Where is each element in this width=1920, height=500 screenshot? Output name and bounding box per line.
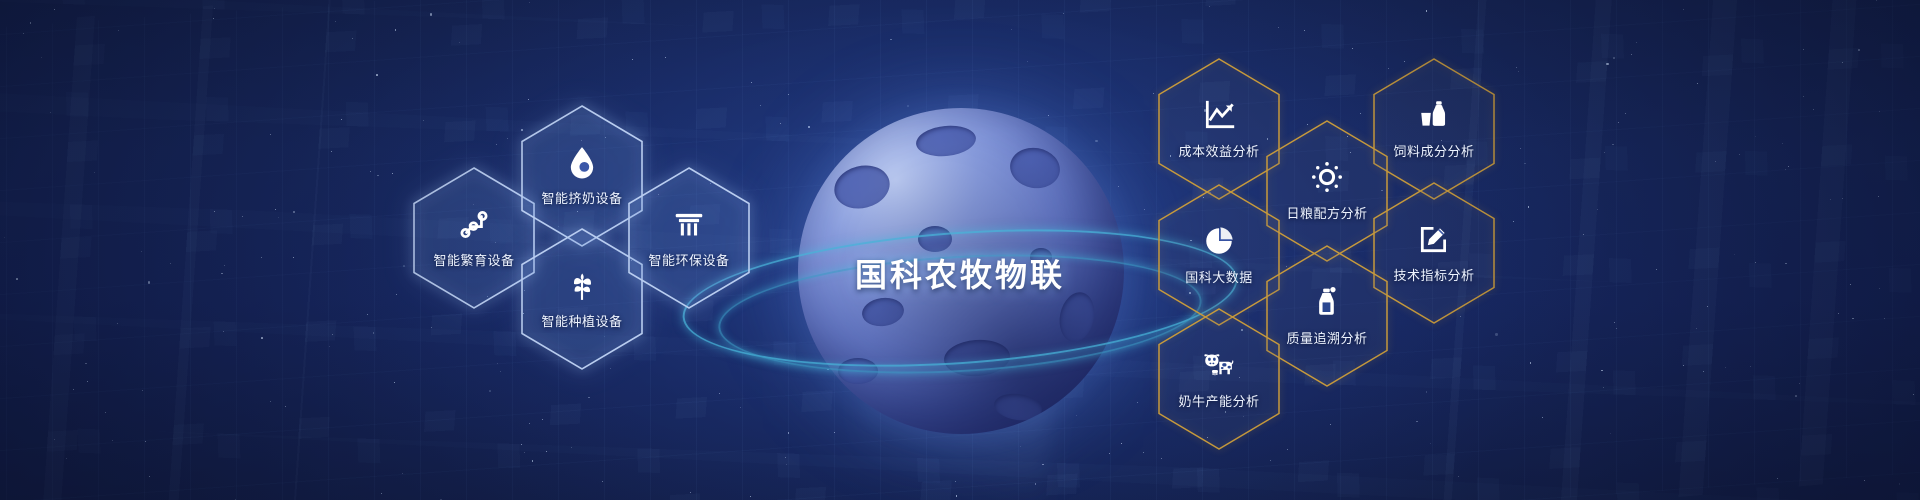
milk-bottle-cup-icon [1417,98,1451,132]
hero-banner: 国科农牧物联 智能繁育设备 智能挤奶设备 [0,0,1920,500]
hex-intelligent-milking[interactable]: 智能挤奶设备 [520,105,644,247]
plant-icon [565,268,599,302]
hex-intelligent-breeding[interactable]: 智能繁育设备 [412,167,536,309]
hex-diet-formula-analysis[interactable]: 日粮配方分析 [1265,120,1389,262]
milk-bottle-icon [1310,285,1344,319]
line-chart-icon [1202,98,1236,132]
edit-pencil-icon [1417,222,1451,256]
hex-quality-traceability-analysis[interactable]: 质量追溯分析 [1265,245,1389,387]
trash-bin-icon [672,207,706,241]
hex-label: 饲料成分分析 [1393,141,1474,160]
hex-label: 日粮配方分析 [1286,203,1367,222]
hex-label: 智能繁育设备 [433,250,514,269]
hex-label: 智能挤奶设备 [541,188,622,207]
hex-intelligent-planting[interactable]: 智能种植设备 [520,228,644,370]
hex-cost-benefit-analysis[interactable]: 成本效益分析 [1157,58,1281,200]
hex-label: 奶牛产能分析 [1178,391,1259,410]
nodes-icon [457,207,491,241]
hex-technical-indicator-analysis[interactable]: 技术指标分析 [1372,182,1496,324]
hex-dairy-cow-capacity-analysis[interactable]: 奶牛产能分析 [1157,308,1281,450]
page-title: 国科农牧物联 [660,250,1260,296]
hex-label: 技术指标分析 [1393,265,1474,284]
sun-icon [1310,160,1344,194]
hex-feed-composition-analysis[interactable]: 饲料成分分析 [1372,58,1496,200]
hex-label: 智能种植设备 [541,311,622,330]
hex-label: 质量追溯分析 [1286,328,1367,347]
hex-label: 成本效益分析 [1178,141,1259,160]
water-drop-icon [565,145,599,179]
cow-icon [1202,348,1236,382]
